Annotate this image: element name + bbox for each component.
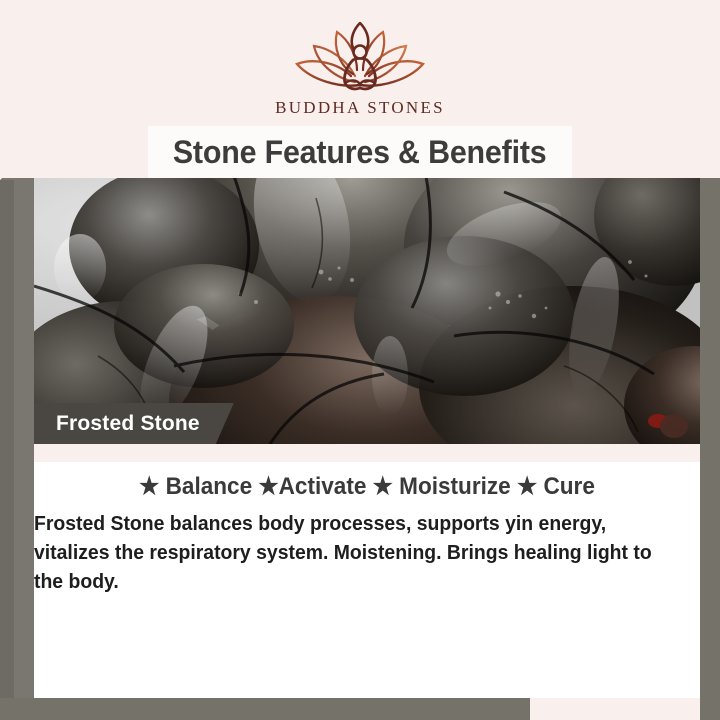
- stone-name-label: Frosted Stone: [34, 403, 234, 444]
- title-banner: Stone Features & Benefits: [148, 126, 572, 178]
- divider-strip: [34, 444, 700, 462]
- brand-logo: BUDDHA STONES: [0, 22, 720, 118]
- description-text: Frosted Stone balances body processes, s…: [34, 510, 680, 597]
- benefits-line: ★ Balance ★Activate ★ Moisturize ★ Cure: [54, 472, 680, 501]
- lotus-meditation-icon: [285, 22, 435, 94]
- frame-bar-left-inner: [0, 180, 14, 720]
- stone-name-text: Frosted Stone: [56, 412, 200, 436]
- frame-bar-bottom: [0, 698, 720, 720]
- page-title: Stone Features & Benefits: [173, 134, 547, 171]
- product-feature-card: BUDDHA STONES Stone Features & Benefits: [0, 0, 720, 720]
- frame-bar-left: [0, 160, 34, 720]
- content-panel: ★ Balance ★Activate ★ Moisturize ★ Cure …: [34, 462, 700, 698]
- brand-name: BUDDHA STONES: [0, 98, 720, 118]
- frame-corner-bottom-right: [530, 698, 700, 720]
